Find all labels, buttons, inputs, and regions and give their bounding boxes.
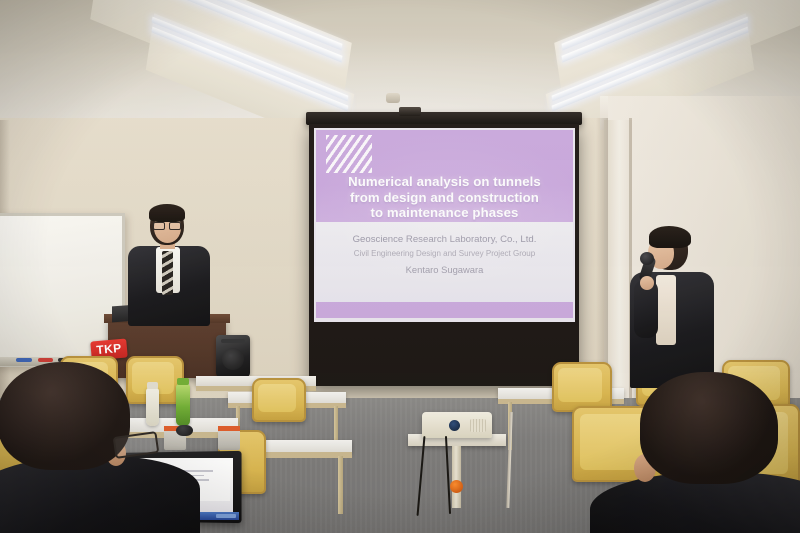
- chair-cushion: [258, 384, 296, 412]
- slide-bottom-band: [316, 302, 573, 318]
- eyeglasses-icon: [113, 431, 160, 459]
- slide-title-line-3: to maintenance phases: [316, 205, 573, 221]
- microphone-head-icon: [640, 252, 654, 265]
- lens-left: [153, 222, 165, 230]
- lens-right: [169, 222, 181, 230]
- striped-tie: [162, 251, 173, 295]
- projector-lens-icon: [449, 420, 460, 431]
- slide-affiliation: Geoscience Research Laboratory, Co., Ltd…: [316, 232, 573, 247]
- speaker-grille: [221, 339, 245, 343]
- hair: [149, 204, 185, 222]
- inner-shirt: [656, 275, 676, 345]
- slide-title-line-2: from design and construction: [316, 190, 573, 206]
- eyeglasses-icon: [153, 222, 181, 228]
- cup: [218, 428, 240, 450]
- presenter-with-microphone: [626, 228, 718, 388]
- computer-mouse[interactable]: [176, 425, 193, 436]
- cup-lid: [218, 426, 240, 431]
- audience-member-right: [612, 372, 800, 533]
- slide-title-line-1: Numerical analysis on tunnels: [316, 174, 573, 190]
- smoke-detector-icon: [386, 93, 400, 103]
- presentation-room-photo: Numerical analysis on tunnels from desig…: [0, 0, 800, 533]
- hair: [0, 362, 130, 470]
- screen-pull-handle[interactable]: [399, 107, 421, 116]
- slide-hatch-decoration-icon: [326, 135, 372, 173]
- bottle-cap: [177, 378, 189, 385]
- slide-presenter-name: Kentaro Sugawara: [316, 261, 573, 278]
- audience-member-left: [0, 362, 178, 533]
- projector-stand-knob[interactable]: [450, 480, 463, 493]
- hand: [640, 276, 654, 290]
- projector-stand-pole: [452, 446, 461, 508]
- slide-department: Civil Engineering Design and Survey Proj…: [316, 247, 573, 261]
- hair: [649, 226, 691, 248]
- slide-title: Numerical analysis on tunnels from desig…: [316, 174, 573, 221]
- projector-vent: [470, 419, 486, 432]
- presenter-at-podium: [120, 205, 216, 325]
- taskbar-clock[interactable]: [216, 514, 236, 518]
- table-leg: [338, 456, 343, 514]
- green-tea-bottle: [176, 384, 190, 426]
- chair-cushion: [558, 368, 602, 402]
- shoulders: [0, 456, 200, 533]
- speaker-cone-icon: [222, 348, 244, 370]
- hair: [640, 372, 778, 484]
- presentation-slide: Numerical analysis on tunnels from desig…: [316, 130, 573, 318]
- slide-subtitle-block: Geoscience Research Laboratory, Co., Ltd…: [316, 232, 573, 278]
